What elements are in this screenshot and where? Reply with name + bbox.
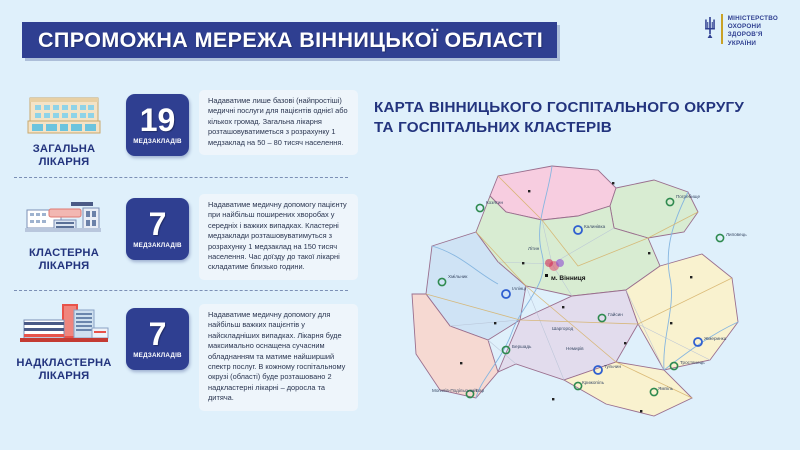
facility-count: 7	[149, 319, 167, 349]
category-row-cluster: КЛАСТЕРНА ЛІКАРНЯ 7 МЕДЗАКЛАДІВ Надавати…	[8, 194, 358, 280]
svg-text:Шаргород: Шаргород	[552, 326, 573, 331]
map-image[interactable]: м. Вінниця	[402, 154, 770, 436]
map-title-line1: КАРТА ВІННИЦЬКОГО ГОСПІТАЛЬНОГО ОКРУГУ	[374, 98, 794, 118]
svg-text:Могилів-Подільський: Могилів-Подільський	[432, 387, 477, 393]
map-title: КАРТА ВІННИЦЬКОГО ГОСПІТАЛЬНОГО ОКРУГУ Т…	[374, 98, 794, 138]
svg-text:Крижопіль: Крижопіль	[582, 380, 605, 385]
category-name-line2: ЛІКАРНЯ	[29, 260, 99, 273]
category-divider	[14, 177, 348, 178]
svg-text:Гайсин: Гайсин	[608, 311, 623, 317]
facility-count-unit: МЕДЗАКЛАДІВ	[133, 242, 182, 249]
hospital-categories-panel: ЗАГАЛЬНА ЛІКАРНЯ 19 МЕДЗАКЛАДІВ Надавати…	[0, 82, 365, 450]
category-label-block: ЗАГАЛЬНА ЛІКАРНЯ	[8, 90, 120, 169]
ministry-logo: МІНІСТЕРСТВО ОХОРОНИ ЗДОРОВ'Я УКРАЇНИ	[704, 14, 778, 47]
facility-count-badge: 7 МЕДЗАКЛАДІВ	[126, 308, 189, 370]
supercluster-hospital-building-icon	[16, 306, 112, 352]
category-row-supercluster: НАДКЛАСТЕРНА ЛІКАРНЯ 7 МЕДЗАКЛАДІВ Надав…	[8, 304, 358, 411]
logo-line-4: УКРАЇНИ	[728, 40, 778, 47]
category-name-line2: ЛІКАРНЯ	[33, 156, 96, 169]
map-region-northeast	[610, 180, 698, 238]
general-hospital-building-icon	[26, 92, 102, 138]
vinnytsia-oblast-map[interactable]: м. Вінниця	[402, 154, 770, 436]
logo-line-1: МІНІСТЕРСТВО	[728, 15, 778, 22]
map-panel: КАРТА ВІННИЦЬКОГО ГОСПІТАЛЬНОГО ОКРУГУ Т…	[366, 82, 800, 450]
facility-count-badge: 19 МЕДЗАКЛАДІВ	[126, 94, 189, 156]
category-description: Надаватиме медичну допомогу пацієнту при…	[199, 194, 358, 280]
map-title-line2: ТА ГОСПІТАЛЬНИХ КЛАСТЕРІВ	[374, 118, 794, 138]
svg-text:Іллінці: Іллінці	[512, 286, 526, 291]
page-title: СПРОМОЖНА МЕРЕЖА ВІННИЦЬКОЇ ОБЛАСТІ	[38, 28, 543, 53]
facility-count: 7	[149, 209, 167, 239]
category-label-block: КЛАСТЕРНА ЛІКАРНЯ	[8, 194, 120, 273]
svg-text:Калинівка: Калинівка	[584, 224, 606, 229]
svg-text:Бар: Бар	[476, 388, 485, 393]
category-name: КЛАСТЕРНА ЛІКАРНЯ	[29, 247, 99, 273]
category-name-line1: ЗАГАЛЬНА	[33, 143, 96, 156]
svg-text:Немирів: Немирів	[566, 346, 584, 351]
svg-text:Погребище: Погребище	[676, 194, 701, 199]
svg-text:Козятин: Козятин	[486, 200, 503, 205]
map-capital-label: м. Вінниця	[551, 274, 586, 282]
page-title-bar: СПРОМОЖНА МЕРЕЖА ВІННИЦЬКОЇ ОБЛАСТІ	[22, 22, 557, 58]
category-row-general: ЗАГАЛЬНА ЛІКАРНЯ 19 МЕДЗАКЛАДІВ Надавати…	[8, 90, 358, 169]
svg-text:Бершадь: Бершадь	[512, 344, 532, 349]
category-name-line2: ЛІКАРНЯ	[16, 370, 111, 383]
logo-line-2: ОХОРОНИ	[728, 23, 778, 30]
category-name: ЗАГАЛЬНА ЛІКАРНЯ	[33, 143, 96, 169]
svg-text:Хмільник: Хмільник	[448, 274, 468, 279]
category-description: Надаватиме медичну допомогу для найбільш…	[199, 304, 358, 411]
facility-count-unit: МЕДЗАКЛАДІВ	[133, 138, 182, 145]
category-label-block: НАДКЛАСТЕРНА ЛІКАРНЯ	[8, 304, 120, 383]
facility-count-badge: 7 МЕДЗАКЛАДІВ	[126, 198, 189, 260]
category-name-line1: КЛАСТЕРНА	[29, 247, 99, 260]
category-divider	[14, 290, 348, 291]
svg-text:Тульчин: Тульчин	[604, 364, 621, 369]
category-description: Надаватиме лише базові (найпростіші) мед…	[199, 90, 358, 155]
svg-text:Жмеринка: Жмеринка	[704, 336, 727, 341]
logo-divider	[721, 14, 723, 44]
category-name: НАДКЛАСТЕРНА ЛІКАРНЯ	[16, 357, 111, 383]
svg-text:Тростянець: Тростянець	[680, 360, 705, 365]
cluster-hospital-building-icon	[21, 196, 107, 242]
ukraine-trident-icon	[704, 14, 716, 44]
category-name-line1: НАДКЛАСТЕРНА	[16, 357, 111, 370]
page-header: СПРОМОЖНА МЕРЕЖА ВІННИЦЬКОЇ ОБЛАСТІ МІНІ…	[0, 0, 800, 82]
logo-line-3: ЗДОРОВ'Я	[728, 31, 778, 38]
facility-count-unit: МЕДЗАКЛАДІВ	[133, 352, 182, 359]
ministry-logo-text: МІНІСТЕРСТВО ОХОРОНИ ЗДОРОВ'Я УКРАЇНИ	[728, 14, 778, 47]
svg-text:Літин: Літин	[528, 246, 540, 251]
facility-count: 19	[140, 105, 176, 135]
svg-text:Ямпіль: Ямпіль	[658, 386, 674, 391]
svg-text:Липовець: Липовець	[726, 232, 747, 237]
